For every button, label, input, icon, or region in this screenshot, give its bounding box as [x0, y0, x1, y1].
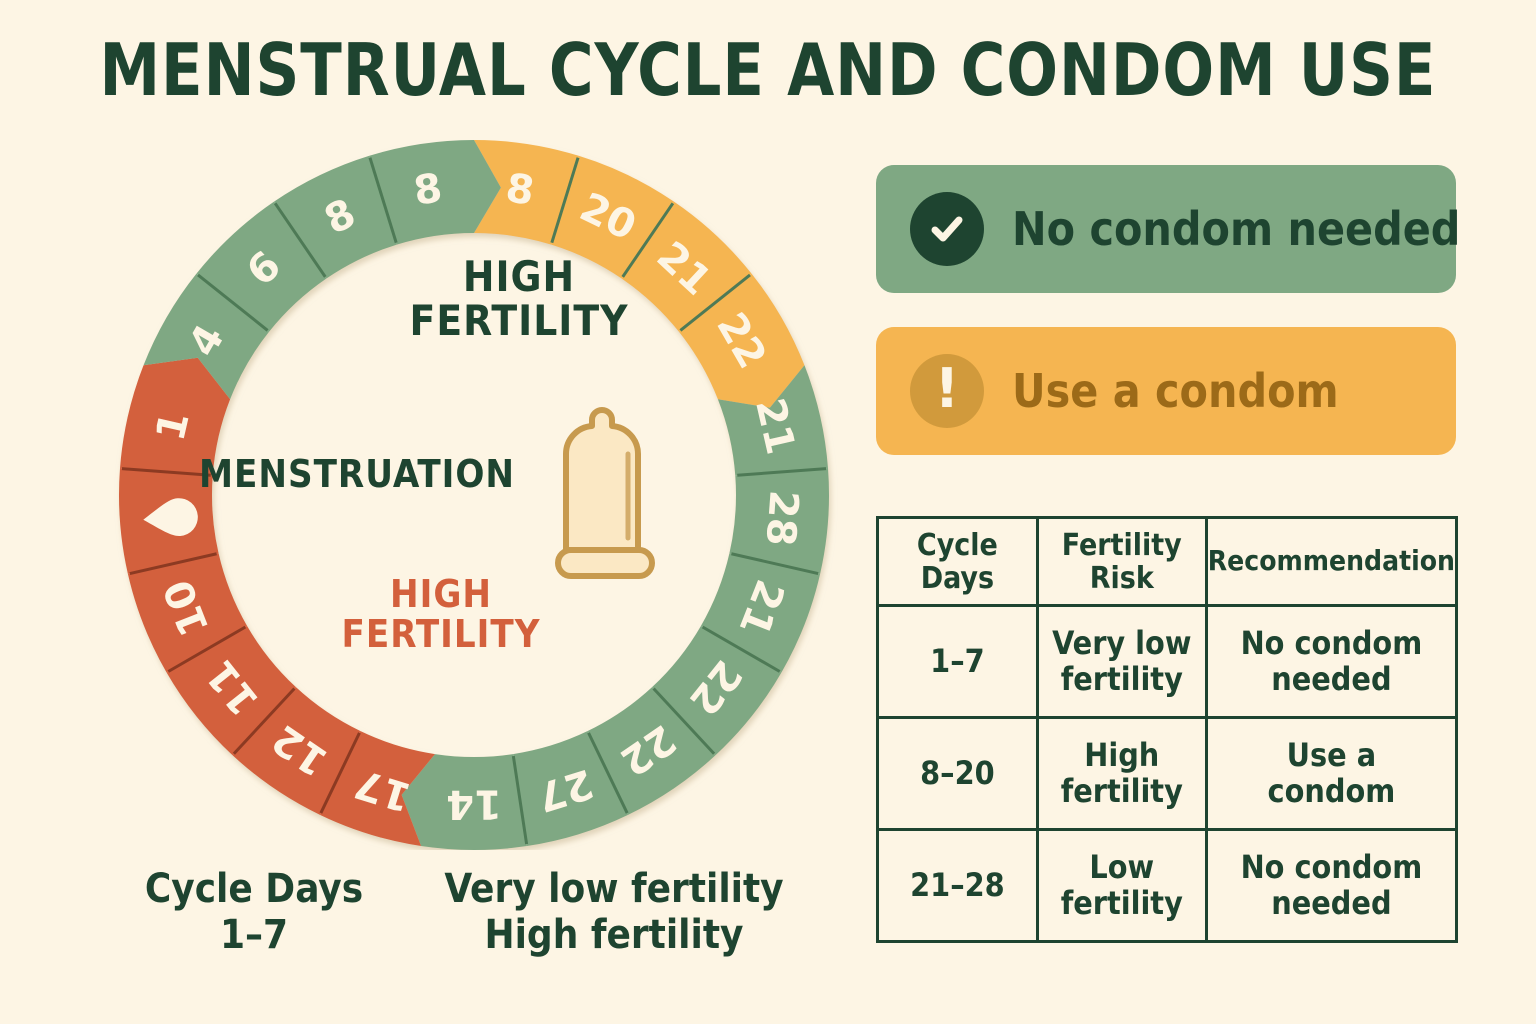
table-cell-risk: High fertility [1037, 718, 1206, 830]
wheel-center-label-menstruation: MENSTRUATION [192, 455, 522, 495]
table-row: 1–7 Very low fertility No condom needed [878, 606, 1457, 718]
caption-fertility-levels: Very low fertility High fertility [404, 866, 824, 958]
legend: No condom needed ! Use a condom [876, 165, 1456, 455]
table-cell-risk: Very low fertility [1037, 606, 1206, 718]
table-cell-days: 21–28 [878, 830, 1038, 942]
table-header-row: Cycle Days Fertility Risk Recommendation [878, 518, 1457, 606]
wheel-segment-label: 14 [446, 781, 502, 827]
wheel-center-label-high-fertility-top: HIGH FERTILITY [384, 255, 654, 343]
table-cell-days: 8–20 [878, 718, 1038, 830]
page-title: MENSTRUAL CYCLE AND CONDOM USE [46, 28, 1490, 112]
legend-item-use-a-condom[interactable]: ! Use a condom [876, 327, 1456, 455]
table-cell-risk: Low fertility [1037, 830, 1206, 942]
condom-icon [544, 392, 674, 592]
check-circle-icon [910, 192, 984, 266]
table-cell-days: 1–7 [878, 606, 1038, 718]
caption-cycle-days: Cycle Days 1–7 [104, 866, 404, 958]
table-cell-recommendation: Use a condom [1206, 718, 1456, 830]
legend-label-use-a-condom: Use a condom [1012, 364, 1339, 418]
exclamation-circle-icon: ! [910, 354, 984, 428]
fertility-risk-table: Cycle Days Fertility Risk Recommendation… [876, 516, 1458, 943]
table-cell-recommendation: No condom needed [1206, 606, 1456, 718]
table-header-fertility-risk: Fertility Risk [1037, 518, 1206, 606]
wheel-center-label-high-fertility-bottom: HIGH FERTILITY [326, 575, 556, 655]
table-row: 8–20 High fertility Use a condom [878, 718, 1457, 830]
cycle-wheel: 8202122212821222227141712111014688 HIGH … [104, 140, 844, 850]
table-header-recommendation: Recommendation [1206, 518, 1456, 606]
wheel-segment-label: 28 [757, 489, 807, 548]
table-header-cycle-days: Cycle Days [878, 518, 1038, 606]
legend-label-no-condom-needed: No condom needed [1012, 202, 1460, 256]
wheel-captions: Cycle Days 1–7 Very low fertility High f… [104, 866, 864, 986]
exclamation-glyph: ! [935, 362, 960, 416]
table-row: 21–28 Low fertility No condom needed [878, 830, 1457, 942]
table-cell-recommendation: No condom needed [1206, 830, 1456, 942]
legend-item-no-condom-needed[interactable]: No condom needed [876, 165, 1456, 293]
